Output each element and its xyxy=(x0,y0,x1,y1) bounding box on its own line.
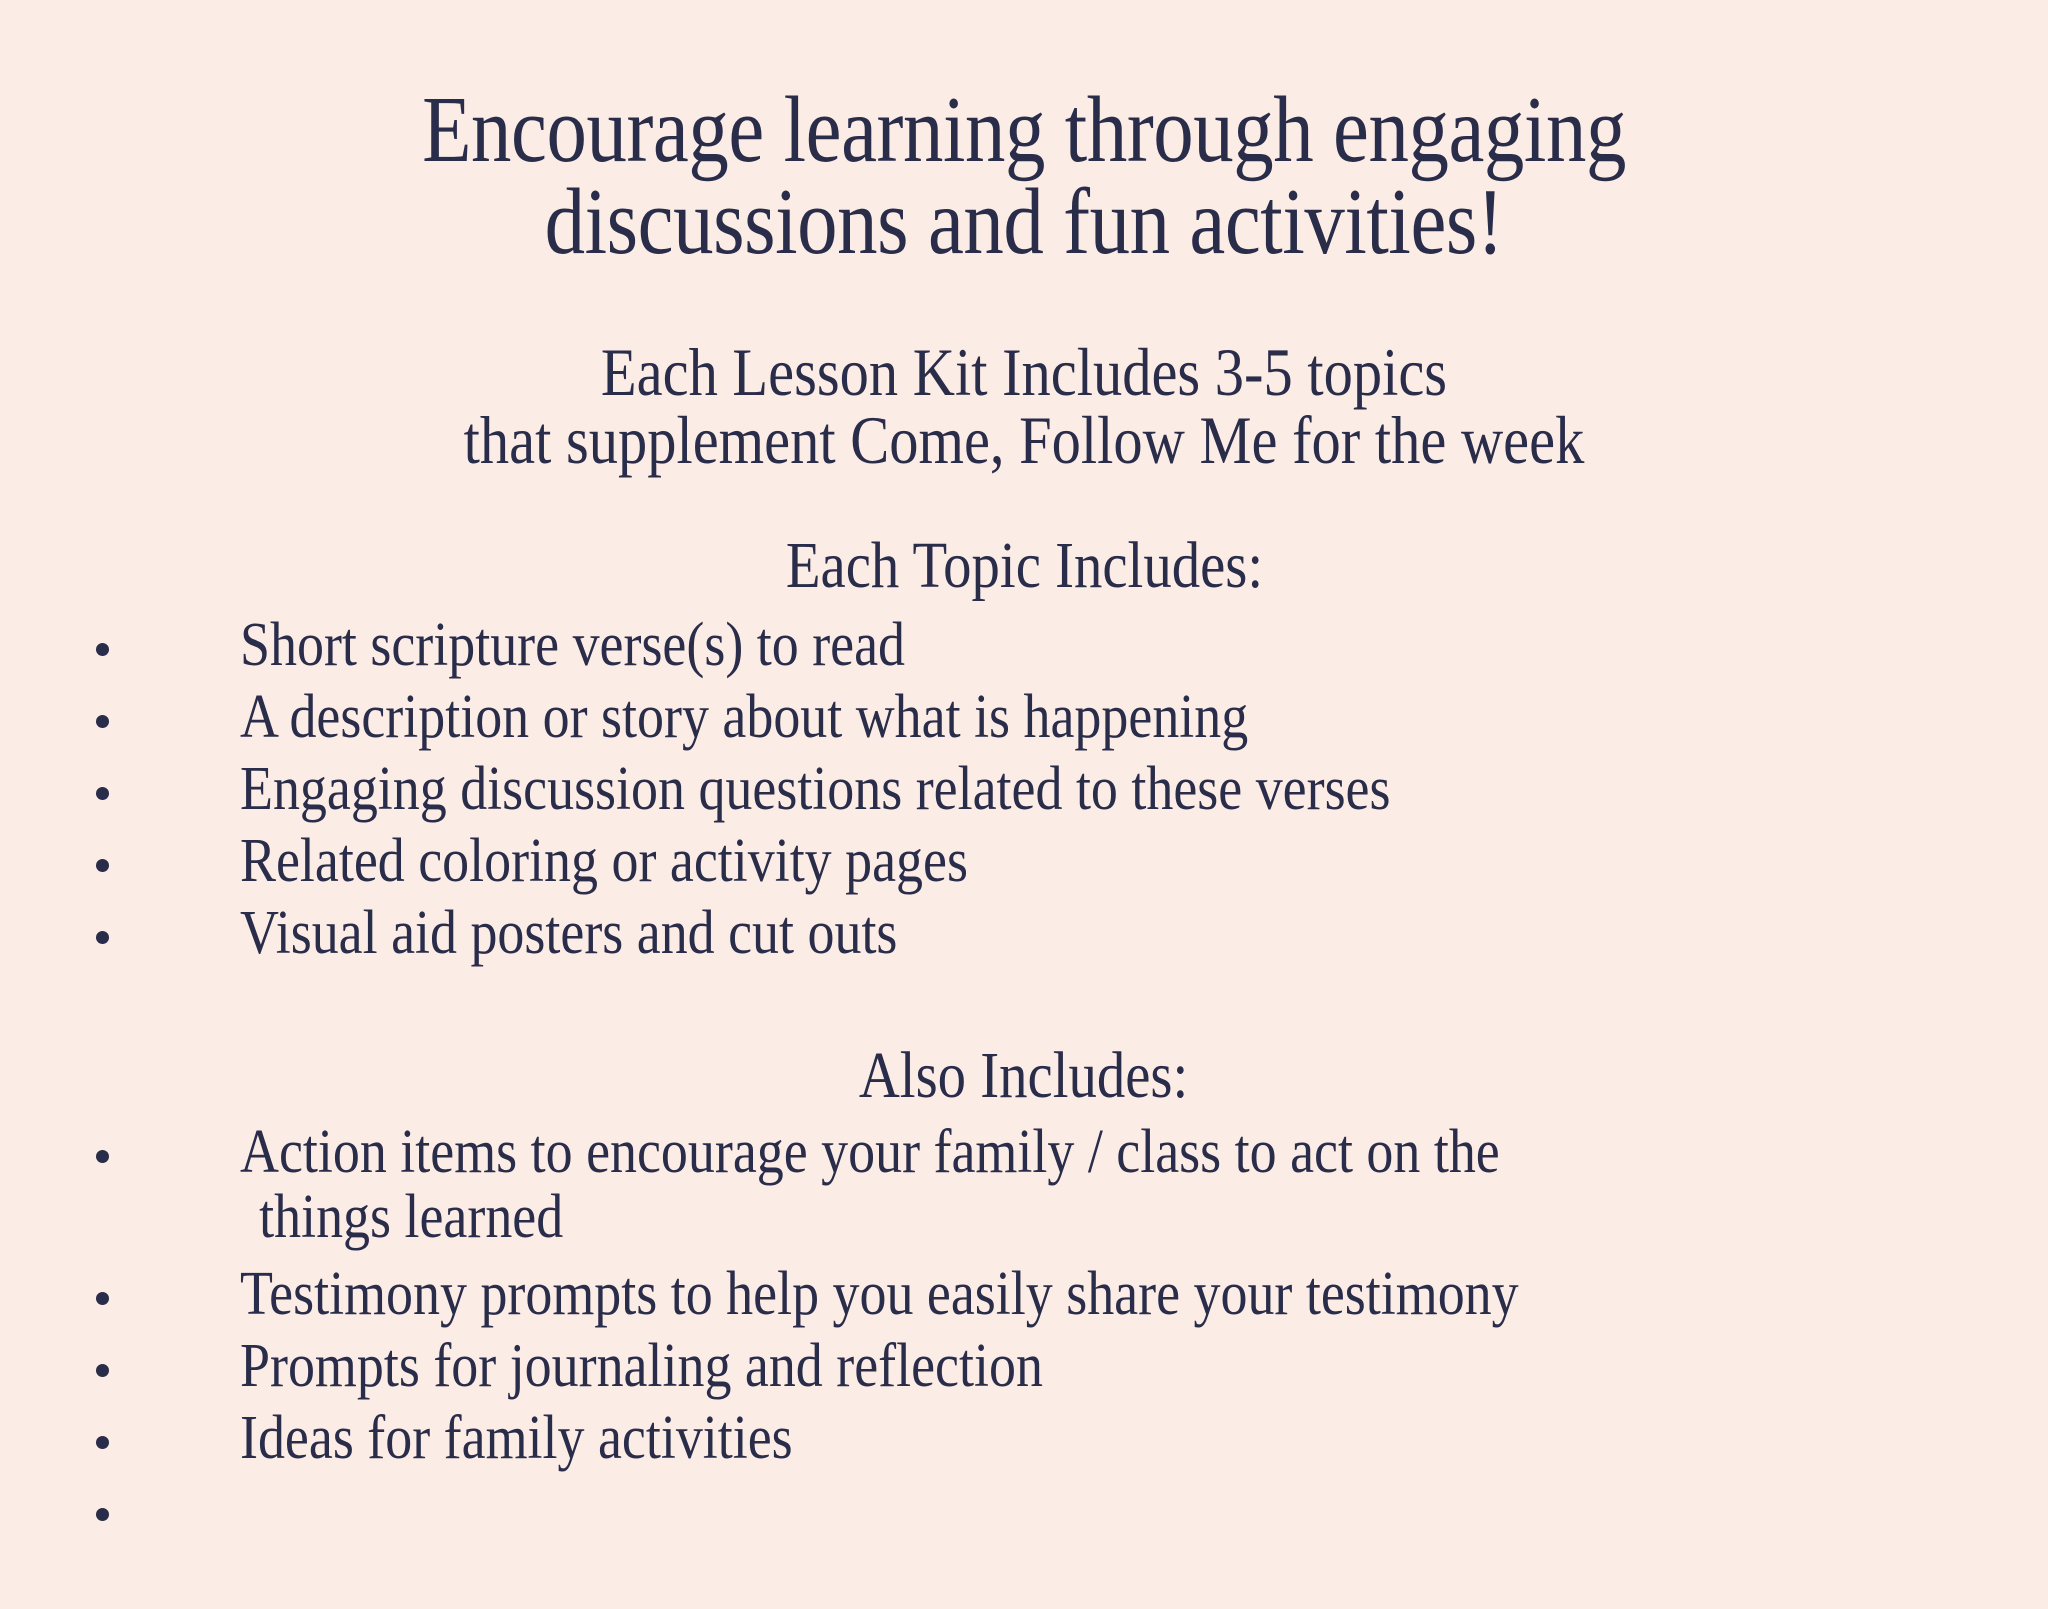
title-line-1: Encourage learning through engaging xyxy=(143,84,1904,176)
list-item: Engaging discussion questions related to… xyxy=(0,757,2048,829)
list-item-label: Related coloring or activity pages xyxy=(240,829,1813,894)
bullet-dot-icon xyxy=(96,787,109,800)
slide-canvas: Encourage learning through engaging disc… xyxy=(0,0,2048,1609)
list-item-label: Short scripture verse(s) to read xyxy=(240,613,1813,678)
bullet-dot-icon xyxy=(96,1436,109,1449)
section-heading-text: Each Topic Includes: xyxy=(785,533,1262,599)
list-item-label xyxy=(240,1478,1813,1534)
list-item: Related coloring or activity pages xyxy=(0,829,2048,901)
list-item: Testimony prompts to help you easily sha… xyxy=(0,1262,2048,1334)
section-heading-also-includes: Also Includes: xyxy=(0,1043,2048,1109)
also-includes-list: Action items to encourage your family / … xyxy=(0,1120,2048,1550)
title-line-2: discussions and fun activities! xyxy=(143,176,1904,268)
list-item-label: Action items to encourage your family / … xyxy=(240,1120,1813,1250)
bullet-dot-icon xyxy=(96,1364,109,1377)
section-heading-text: Also Includes: xyxy=(859,1043,1188,1109)
list-item: Short scripture verse(s) to read xyxy=(0,613,2048,685)
bullet-dot-icon xyxy=(96,643,109,656)
list-item: Ideas for family activities xyxy=(0,1406,2048,1478)
page-title: Encourage learning through engaging disc… xyxy=(0,84,2048,268)
bullet-dot-icon xyxy=(96,1150,109,1163)
list-item-label: Testimony prompts to help you easily sha… xyxy=(240,1262,1813,1327)
bullet-dot-icon xyxy=(96,1508,109,1521)
subtitle-line-2: that supplement Come, Follow Me for the … xyxy=(143,406,1904,474)
list-item-label: Visual aid posters and cut outs xyxy=(240,901,1813,966)
topic-includes-list: Short scripture verse(s) to read A descr… xyxy=(0,613,2048,973)
page-subtitle: Each Lesson Kit Includes 3-5 topics that… xyxy=(0,338,2048,474)
list-item-empty xyxy=(0,1478,2048,1550)
list-item: Prompts for journaling and reflection xyxy=(0,1334,2048,1406)
list-item: Action items to encourage your family / … xyxy=(0,1120,2048,1262)
list-item-label-line1: Action items to encourage your family / … xyxy=(240,1118,1500,1186)
list-item-label: Ideas for family activities xyxy=(240,1406,1813,1471)
list-item-label: A description or story about what is hap… xyxy=(240,685,1813,750)
bullet-dot-icon xyxy=(96,1292,109,1305)
bullet-dot-icon xyxy=(96,715,109,728)
list-item-label-line2: things learned xyxy=(240,1185,1813,1250)
bullet-dot-icon xyxy=(96,859,109,872)
bullet-dot-icon xyxy=(96,931,109,944)
section-heading-each-topic-includes: Each Topic Includes: xyxy=(0,533,2048,599)
list-item-label: Prompts for journaling and reflection xyxy=(240,1334,1813,1399)
list-item: Visual aid posters and cut outs xyxy=(0,901,2048,973)
list-item: A description or story about what is hap… xyxy=(0,685,2048,757)
list-item-label: Engaging discussion questions related to… xyxy=(240,757,1813,822)
subtitle-line-1: Each Lesson Kit Includes 3-5 topics xyxy=(143,338,1904,406)
